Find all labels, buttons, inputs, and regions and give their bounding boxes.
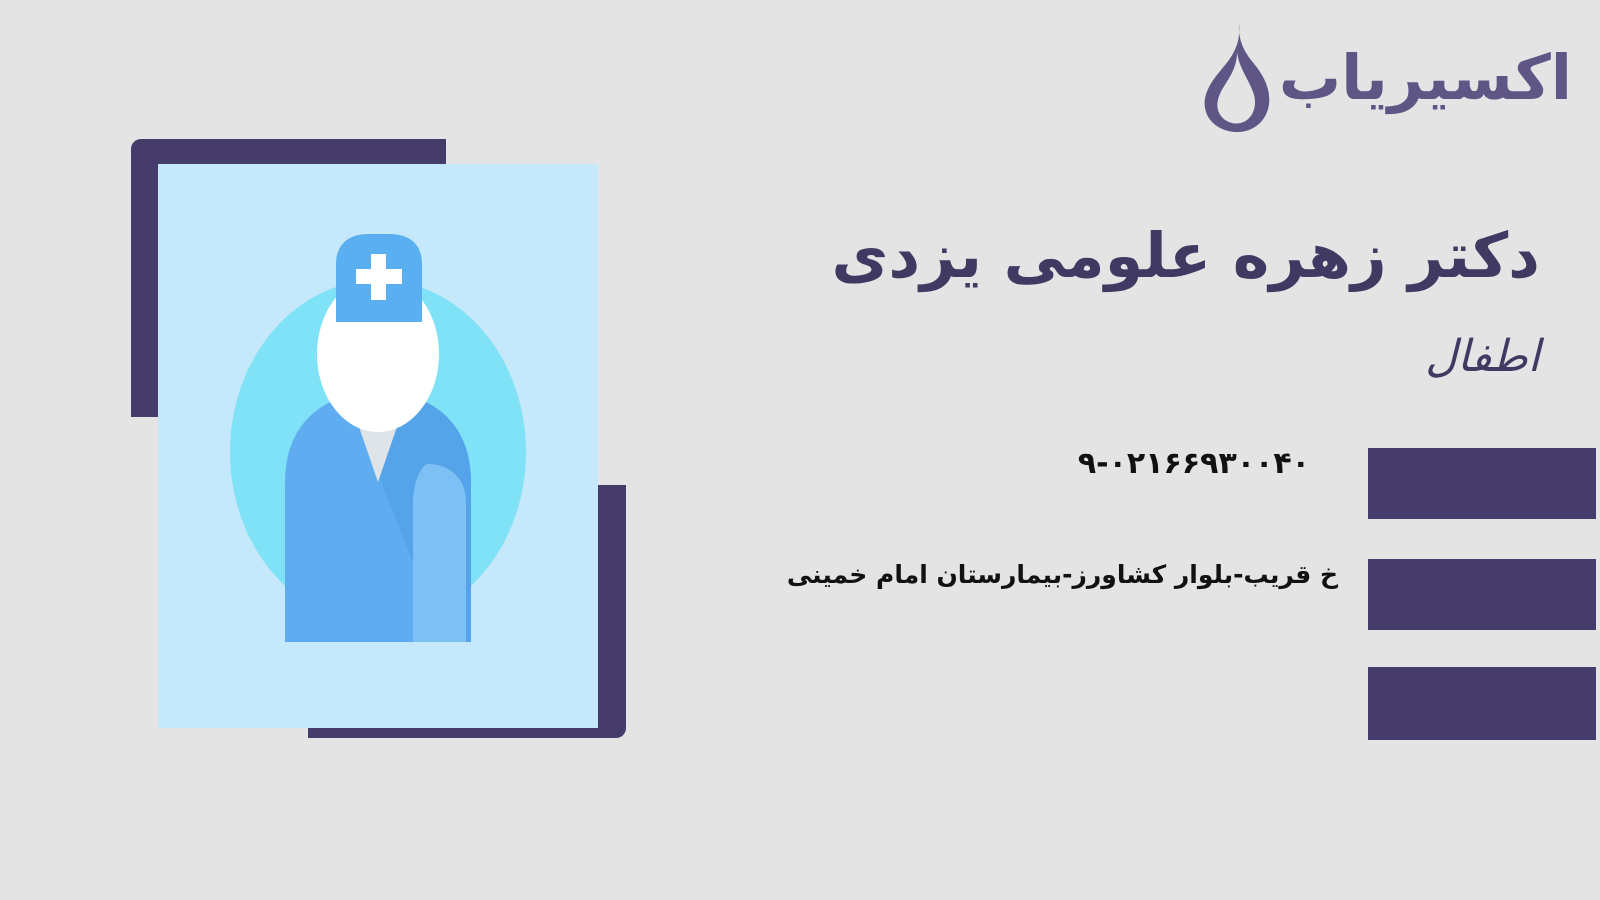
doctor-phone[interactable]: ۹-۰۲۱۶۶۹۳۰۰۴۰ (1078, 446, 1310, 481)
right-edge-strip (1596, 0, 1600, 900)
decor-bar-2 (1368, 559, 1596, 630)
avatar-arm (413, 464, 466, 642)
doctor-specialty: اطفال (1425, 333, 1540, 381)
decor-bar-1 (1368, 448, 1596, 519)
flame-icon (1181, 22, 1273, 134)
brand-logo[interactable]: اکسیریاب (1181, 22, 1572, 134)
doctor-profile-banner: اکسیریاب (0, 0, 1600, 900)
illustration-card (158, 164, 598, 728)
brand-logo-text: اکسیریاب (1279, 47, 1572, 109)
doctor-name: دکتر زهره علومی یزدی (832, 222, 1541, 290)
doctor-address: خ قریب-بلوار کشاورز-بیمارستان امام خمینی (787, 560, 1338, 589)
avatar-cap-cross-h (356, 269, 402, 284)
decor-bar-3 (1368, 667, 1596, 740)
doctor-illustration (131, 139, 626, 738)
doctor-avatar-icon (223, 224, 533, 664)
